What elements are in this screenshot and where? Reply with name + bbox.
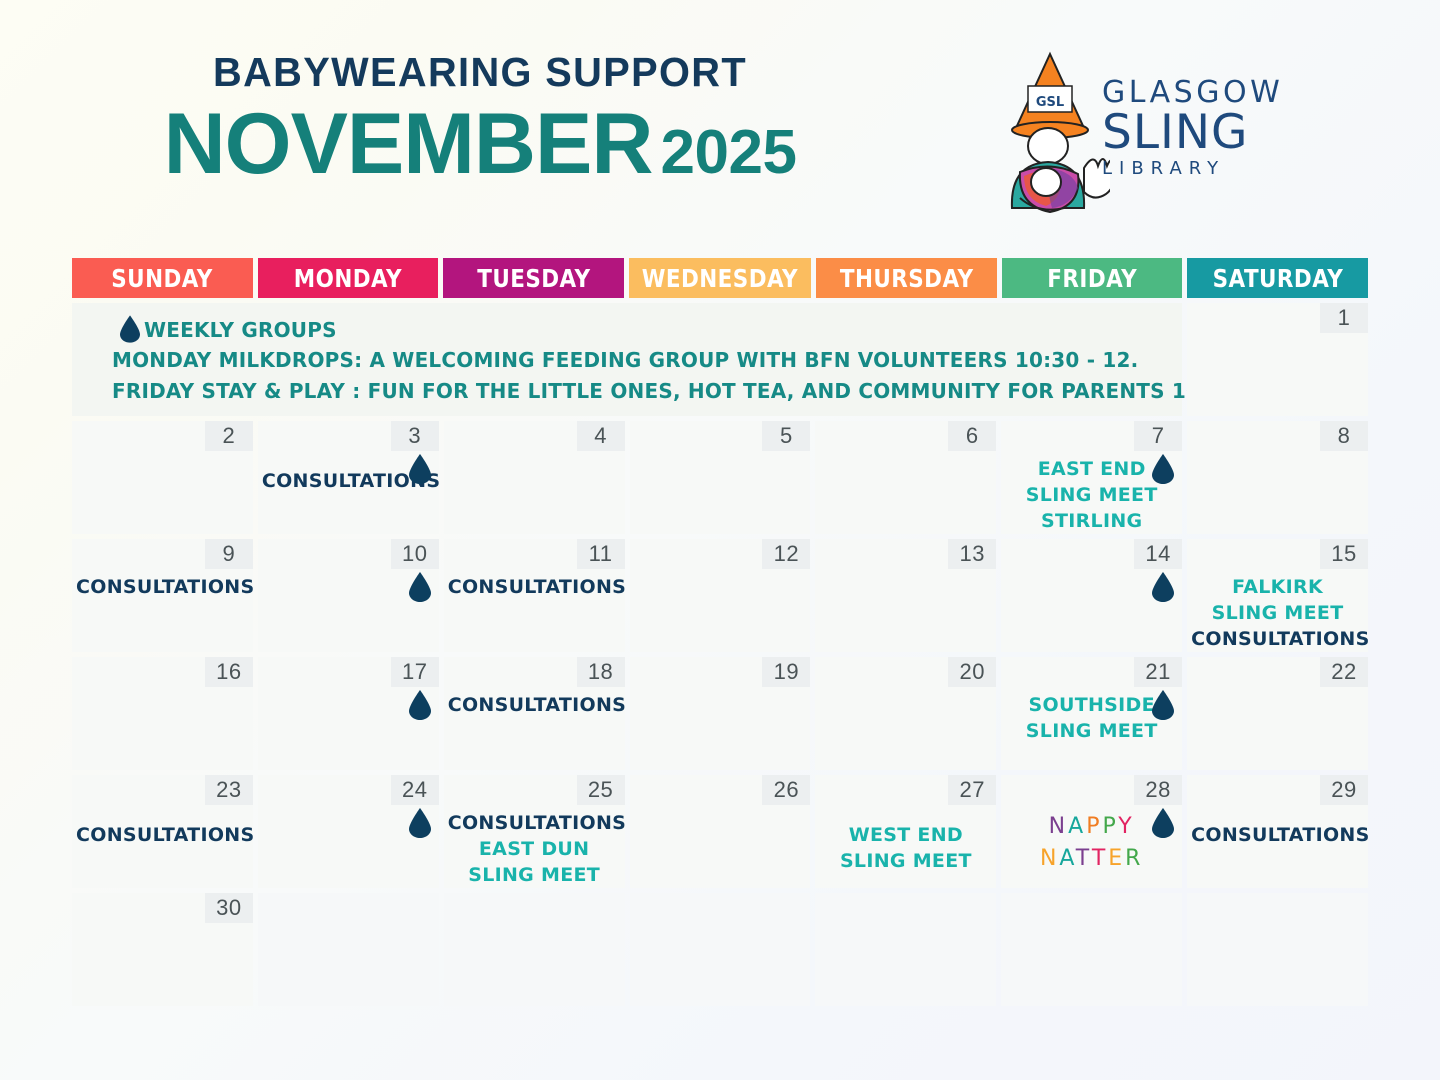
calendar-day-cell[interactable]: 3CONSULTATIONS xyxy=(258,421,439,534)
page-title-year: 2025 xyxy=(661,118,797,187)
svg-text:GSL: GSL xyxy=(1036,95,1064,110)
calendar-day-cell[interactable]: 19 xyxy=(630,657,811,770)
day-header-friday: FRIDAY xyxy=(1002,258,1183,298)
event-sling-meet[interactable]: SLING MEET xyxy=(448,863,621,888)
calendar-day-cell[interactable]: 10 xyxy=(258,539,439,652)
calendar-day-cell[interactable]: 25CONSULTATIONSEAST DUNSLING MEET xyxy=(444,775,625,888)
calendar-day-cell[interactable]: 18CONSULTATIONS xyxy=(444,657,625,770)
water-drop-icon xyxy=(1152,572,1174,602)
day-number: 10 xyxy=(391,539,439,569)
calendar-week-row: 23CONSULTATIONS4567EAST ENDSLING MEETSTI… xyxy=(72,421,1368,534)
day-number: 29 xyxy=(1320,775,1368,805)
day-number: 14 xyxy=(1134,539,1182,569)
day-number: 8 xyxy=(1320,421,1368,451)
event-list: CONSULTATIONS xyxy=(448,575,621,601)
day-number: 11 xyxy=(577,539,625,569)
calendar-day-cell[interactable]: 17 xyxy=(258,657,439,770)
calendar-day-cell[interactable]: 2 xyxy=(72,421,253,534)
event-consultations[interactable]: CONSULTATIONS xyxy=(448,693,621,719)
day-header-label: SUNDAY xyxy=(112,264,214,293)
event-list: FALKIRKSLING MEETCONSULTATIONS xyxy=(1191,575,1364,652)
day-header-label: THURSDAY xyxy=(839,264,973,293)
sling-library-mascot-icon: GSL xyxy=(990,48,1110,218)
water-drop-icon xyxy=(1152,690,1174,720)
day-number: 5 xyxy=(762,421,810,451)
page-supertitle: BABYWEARING SUPPORT xyxy=(14,52,945,93)
calendar-cell-empty xyxy=(630,893,811,1006)
day-number: 26 xyxy=(762,775,810,805)
event-sling-meet[interactable]: EAST DUN xyxy=(448,837,621,863)
calendar-day-cell[interactable]: 11CONSULTATIONS xyxy=(444,539,625,652)
page-title-month: NOVEMBER xyxy=(164,96,653,192)
nappy-natter-line2: NATTER xyxy=(1005,843,1178,875)
day-number: 24 xyxy=(391,775,439,805)
day-number: 13 xyxy=(948,539,996,569)
calendar-day-cell[interactable]: 8 xyxy=(1187,421,1368,534)
weekly-groups-line: FRIDAY STAY & PLAY : FUN FOR THE LITTLE … xyxy=(112,376,1166,406)
calendar-day-cell[interactable]: 29CONSULTATIONS xyxy=(1187,775,1368,888)
day-header-tuesday: TUESDAY xyxy=(443,258,624,298)
event-list: CONSULTATIONS xyxy=(448,693,621,719)
calendar-day-cell[interactable]: 5 xyxy=(630,421,811,534)
day-header-label: WEDNESDAY xyxy=(642,264,798,293)
brand-logo: GSL GLASGOW SLING LIBRARY xyxy=(990,40,1290,220)
event-consultations[interactable]: CONSULTATIONS xyxy=(448,575,621,601)
day-number: 4 xyxy=(577,421,625,451)
calendar-day-cell[interactable]: 30 xyxy=(72,893,253,1006)
day-number: 22 xyxy=(1320,657,1368,687)
day-header-label: MONDAY xyxy=(294,264,402,293)
event-list: CONSULTATIONS xyxy=(76,575,249,601)
day-header-saturday: SATURDAY xyxy=(1187,258,1368,298)
event-consultations[interactable]: CONSULTATIONS xyxy=(1191,627,1364,652)
weekly-groups-line: MONDAY MILKDROPS: A WELCOMING FEEDING GR… xyxy=(112,345,1166,375)
event-sling-meet[interactable]: FALKIRK xyxy=(1191,575,1364,601)
day-number: 12 xyxy=(762,539,810,569)
day-header-sunday: SUNDAY xyxy=(72,258,253,298)
calendar-cell-empty xyxy=(258,893,439,1006)
day-header-label: TUESDAY xyxy=(477,264,590,293)
day-number: 21 xyxy=(1134,657,1182,687)
day-number: 16 xyxy=(205,657,253,687)
calendar-day-headers: SUNDAYMONDAYTUESDAYWEDNESDAYTHURSDAYFRID… xyxy=(72,258,1368,298)
calendar-week-row: 23CONSULTATIONS2425CONSULTATIONSEAST DUN… xyxy=(72,775,1368,888)
calendar-day-cell[interactable]: 12 xyxy=(630,539,811,652)
day-number: 28 xyxy=(1134,775,1182,805)
day-number: 9 xyxy=(205,539,253,569)
calendar-day-cell[interactable]: 27WEST ENDSLING MEET xyxy=(815,775,996,888)
day-header-label: FRIDAY xyxy=(1047,264,1137,293)
day-number: 7 xyxy=(1134,421,1182,451)
calendar-weeks: WEEKLY GROUPSMONDAY MILKDROPS: A WELCOMI… xyxy=(72,303,1368,1006)
calendar-day-cell[interactable]: 21SOUTHSIDESLING MEET xyxy=(1001,657,1182,770)
calendar: SUNDAYMONDAYTUESDAYWEDNESDAYTHURSDAYFRID… xyxy=(72,258,1368,1011)
event-sling-meet[interactable]: SLING MEET xyxy=(819,849,992,875)
calendar-day-cell[interactable]: 20 xyxy=(815,657,996,770)
calendar-day-cell[interactable]: 7EAST ENDSLING MEETSTIRLINGSLING MEET xyxy=(1001,421,1182,534)
calendar-day-cell[interactable]: 24 xyxy=(258,775,439,888)
calendar-cell-empty xyxy=(1187,893,1368,1006)
calendar-week-row: 161718CONSULTATIONS192021SOUTHSIDESLING … xyxy=(72,657,1368,770)
calendar-day-cell[interactable]: 26 xyxy=(630,775,811,888)
water-drop-icon xyxy=(1152,454,1174,484)
water-drop-icon xyxy=(409,572,431,602)
day-number: 18 xyxy=(577,657,625,687)
calendar-day-cell[interactable]: 28NAPPYNATTER xyxy=(1001,775,1182,888)
day-header-wednesday: WEDNESDAY xyxy=(629,258,811,298)
day-number: 20 xyxy=(948,657,996,687)
title-block: BABYWEARING SUPPORT NOVEMBER2025 xyxy=(0,52,960,187)
calendar-day-cell[interactable]: 1 xyxy=(1187,303,1368,416)
water-drop-icon xyxy=(409,690,431,720)
day-header-monday: MONDAY xyxy=(258,258,439,298)
day-number: 19 xyxy=(762,657,810,687)
event-consultations[interactable]: CONSULTATIONS xyxy=(76,575,249,601)
event-sling-meet[interactable]: SLING MEET xyxy=(1005,719,1178,745)
event-consultations[interactable]: CONSULTATIONS xyxy=(76,823,249,849)
day-number: 17 xyxy=(391,657,439,687)
calendar-day-cell[interactable]: 22 xyxy=(1187,657,1368,770)
calendar-week-row: WEEKLY GROUPSMONDAY MILKDROPS: A WELCOMI… xyxy=(72,303,1368,416)
event-sling-meet[interactable]: SLING MEET xyxy=(1005,483,1178,509)
water-drop-icon xyxy=(409,454,431,484)
day-header-thursday: THURSDAY xyxy=(816,258,997,298)
calendar-week-row: 30 xyxy=(72,893,1368,1006)
calendar-cell-empty xyxy=(815,893,996,1006)
calendar-day-cell[interactable]: 13 xyxy=(815,539,996,652)
event-list: CONSULTATIONS xyxy=(76,823,249,849)
event-list: CONSULTATIONS xyxy=(1191,823,1364,849)
day-number: 15 xyxy=(1320,539,1368,569)
brand-line-glasgow: GLASGOW xyxy=(1102,78,1292,108)
calendar-day-cell[interactable]: 9CONSULTATIONS xyxy=(72,539,253,652)
day-header-label: SATURDAY xyxy=(1212,264,1343,293)
event-list: WEST ENDSLING MEET xyxy=(819,823,992,875)
brand-line-library: LIBRARY xyxy=(1102,157,1292,180)
day-number: 1 xyxy=(1320,303,1368,333)
calendar-day-cell[interactable]: 6 xyxy=(815,421,996,534)
event-sling-meet[interactable]: STIRLING xyxy=(1005,509,1178,534)
calendar-day-cell[interactable]: 23CONSULTATIONS xyxy=(72,775,253,888)
calendar-cell-empty xyxy=(444,893,625,1006)
brand-wordmark: GLASGOW SLING LIBRARY xyxy=(1102,78,1292,181)
water-drop-icon xyxy=(120,315,140,343)
page-header: BABYWEARING SUPPORT NOVEMBER2025 GSL xyxy=(0,0,1440,250)
event-list: CONSULTATIONSEAST DUNSLING MEET xyxy=(448,811,621,888)
water-drop-icon xyxy=(409,808,431,838)
day-number: 23 xyxy=(205,775,253,805)
day-number: 25 xyxy=(577,775,625,805)
calendar-day-cell[interactable]: 14 xyxy=(1001,539,1182,652)
calendar-week-row: 9CONSULTATIONS1011CONSULTATIONS12131415F… xyxy=(72,539,1368,652)
day-number: 27 xyxy=(948,775,996,805)
day-number: 3 xyxy=(391,421,439,451)
weekly-groups-title: WEEKLY GROUPS xyxy=(112,315,1166,345)
water-drop-icon xyxy=(1152,808,1174,838)
calendar-day-cell[interactable]: 4 xyxy=(444,421,625,534)
event-consultations[interactable]: CONSULTATIONS xyxy=(448,811,621,837)
weekly-groups-note: WEEKLY GROUPSMONDAY MILKDROPS: A WELCOMI… xyxy=(72,303,1182,416)
day-number: 30 xyxy=(205,893,253,923)
day-number: 6 xyxy=(948,421,996,451)
calendar-day-cell[interactable]: 16 xyxy=(72,657,253,770)
event-sling-meet[interactable]: WEST END xyxy=(819,823,992,849)
calendar-day-cell[interactable]: 15FALKIRKSLING MEETCONSULTATIONS xyxy=(1187,539,1368,652)
page-title: NOVEMBER2025 xyxy=(0,101,960,187)
calendar-cell-empty xyxy=(1001,893,1182,1006)
brand-line-sling: SLING xyxy=(1102,108,1292,157)
event-consultations[interactable]: CONSULTATIONS xyxy=(1191,823,1364,849)
event-sling-meet[interactable]: SLING MEET xyxy=(1191,601,1364,627)
day-number: 2 xyxy=(205,421,253,451)
